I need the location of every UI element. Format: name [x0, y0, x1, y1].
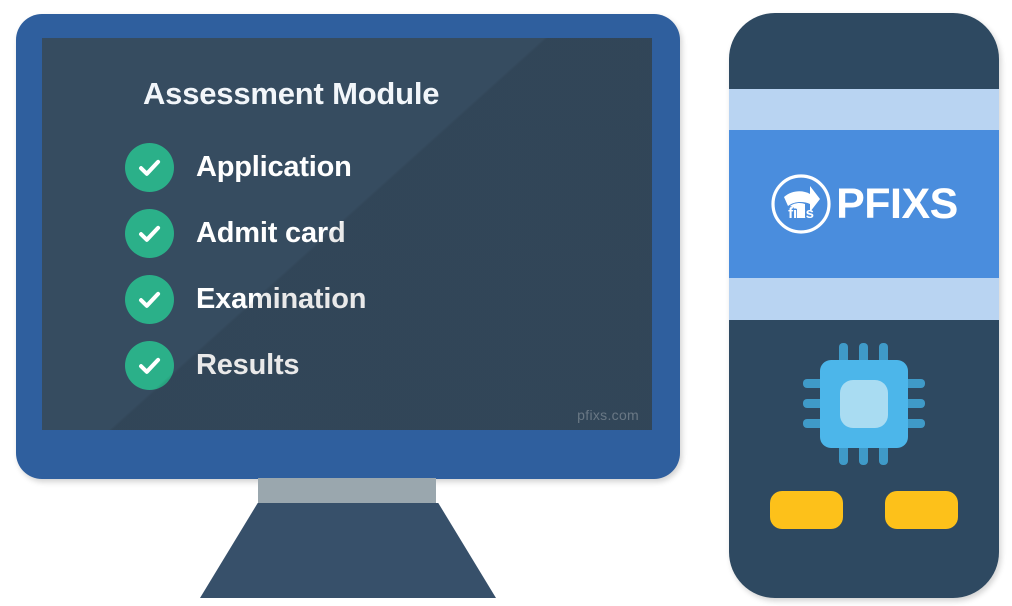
monitor-screen: Assessment Module Application: [42, 38, 652, 430]
monitor-stand-base: [200, 503, 496, 598]
device-band-top: [729, 89, 999, 130]
check-circle-icon: [125, 341, 174, 390]
pfixs-logo-icon: fixs: [770, 173, 832, 235]
list-item[interactable]: Examination: [125, 266, 555, 332]
brand-lockup: fixs PFIXS: [729, 130, 999, 278]
check-circle-icon: [125, 209, 174, 258]
monitor-stand-neck: [258, 478, 436, 504]
list-item[interactable]: Application: [125, 134, 555, 200]
screen-content: Assessment Module Application: [42, 38, 652, 430]
list-item[interactable]: Results: [125, 332, 555, 398]
check-circle-icon: [125, 275, 174, 324]
list-item-label: Admit card: [196, 217, 345, 250]
page-title: Assessment Module: [143, 76, 439, 112]
list-item-label: Results: [196, 349, 299, 382]
cpu-chip-icon: [795, 335, 933, 478]
device-band-bottom: [729, 278, 999, 320]
mobile-device: fixs PFIXS: [729, 13, 999, 598]
list-item-label: Application: [196, 151, 352, 184]
assessment-checklist: Application Admit card: [125, 134, 555, 398]
desktop-monitor: Assessment Module Application: [16, 14, 680, 479]
watermark: pfixs.com: [577, 407, 639, 423]
svg-text:fixs: fixs: [788, 205, 814, 222]
list-item-label: Examination: [196, 283, 366, 316]
list-item[interactable]: Admit card: [125, 200, 555, 266]
brand-wordmark: PFIXS: [836, 183, 958, 226]
pill-button-left[interactable]: [770, 491, 843, 529]
illustration-canvas: Assessment Module Application: [0, 0, 1012, 606]
chip-icon-area: [729, 331, 999, 481]
check-circle-icon: [125, 143, 174, 192]
device-button-row: [729, 491, 999, 529]
pill-button-right[interactable]: [885, 491, 958, 529]
